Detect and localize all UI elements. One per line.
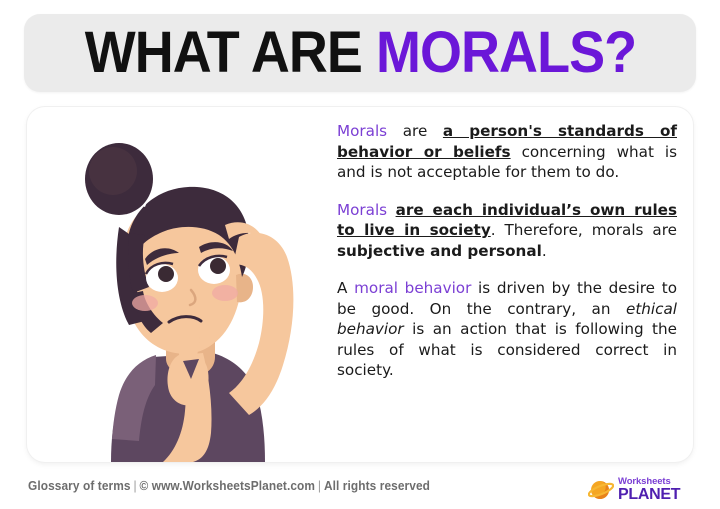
p2-bold: subjective and personal: [337, 242, 542, 260]
logo-wordmark: Worksheets PLANET: [618, 477, 680, 504]
p2-plain-2: .: [542, 242, 547, 260]
keyword-moral-behavior: moral behavior: [354, 279, 471, 297]
blush-left: [132, 295, 158, 311]
definition-text-column: Morals are a person's standards of behav…: [337, 121, 677, 381]
footer-rights: All rights reserved: [324, 479, 430, 493]
worksheets-planet-logo[interactable]: Worksheets PLANET: [588, 475, 698, 505]
raised-arm: [229, 233, 293, 415]
footer-separator-2: |: [315, 479, 324, 493]
p3-plain-1: A: [337, 279, 354, 297]
paragraph-3: A moral behavior is driven by the desire…: [337, 278, 677, 381]
blush-right: [212, 285, 238, 301]
p2-space: [387, 201, 395, 219]
page-title: WHAT ARE MORALS?: [84, 24, 635, 82]
footer-glossary-label: Glossary of terms: [28, 479, 131, 493]
pupil-right: [210, 258, 226, 274]
pupil-left: [158, 266, 174, 282]
p2-plain-1: . Therefore, morals are: [491, 221, 677, 239]
keyword-morals-1: Morals: [337, 122, 387, 140]
footer-website[interactable]: www.WorksheetsPlanet.com: [152, 479, 315, 493]
p1-plain-1: are: [387, 122, 443, 140]
keyword-morals-2: Morals: [337, 201, 387, 219]
title-banner: WHAT ARE MORALS?: [24, 14, 696, 92]
thinking-woman-illustration: [33, 107, 333, 462]
footer-credits: Glossary of terms|© www.WorksheetsPlanet…: [28, 479, 430, 493]
footer: Glossary of terms|© www.WorksheetsPlanet…: [0, 470, 720, 509]
paragraph-2: Morals are each individual’s own rules t…: [337, 200, 677, 262]
title-accent: MORALS?: [376, 20, 636, 85]
logo-top-word: Worksheets: [618, 477, 680, 487]
title-lead: WHAT ARE: [84, 20, 375, 85]
planet-swirl-icon: [588, 477, 614, 503]
copyright-icon: ©: [139, 479, 148, 493]
ear: [236, 274, 253, 303]
hair-bun-highlight: [89, 147, 137, 195]
logo-bottom-word: PLANET: [618, 487, 680, 503]
paragraph-1: Morals are a person's standards of behav…: [337, 121, 677, 183]
content-card: Morals are a person's standards of behav…: [27, 107, 693, 462]
